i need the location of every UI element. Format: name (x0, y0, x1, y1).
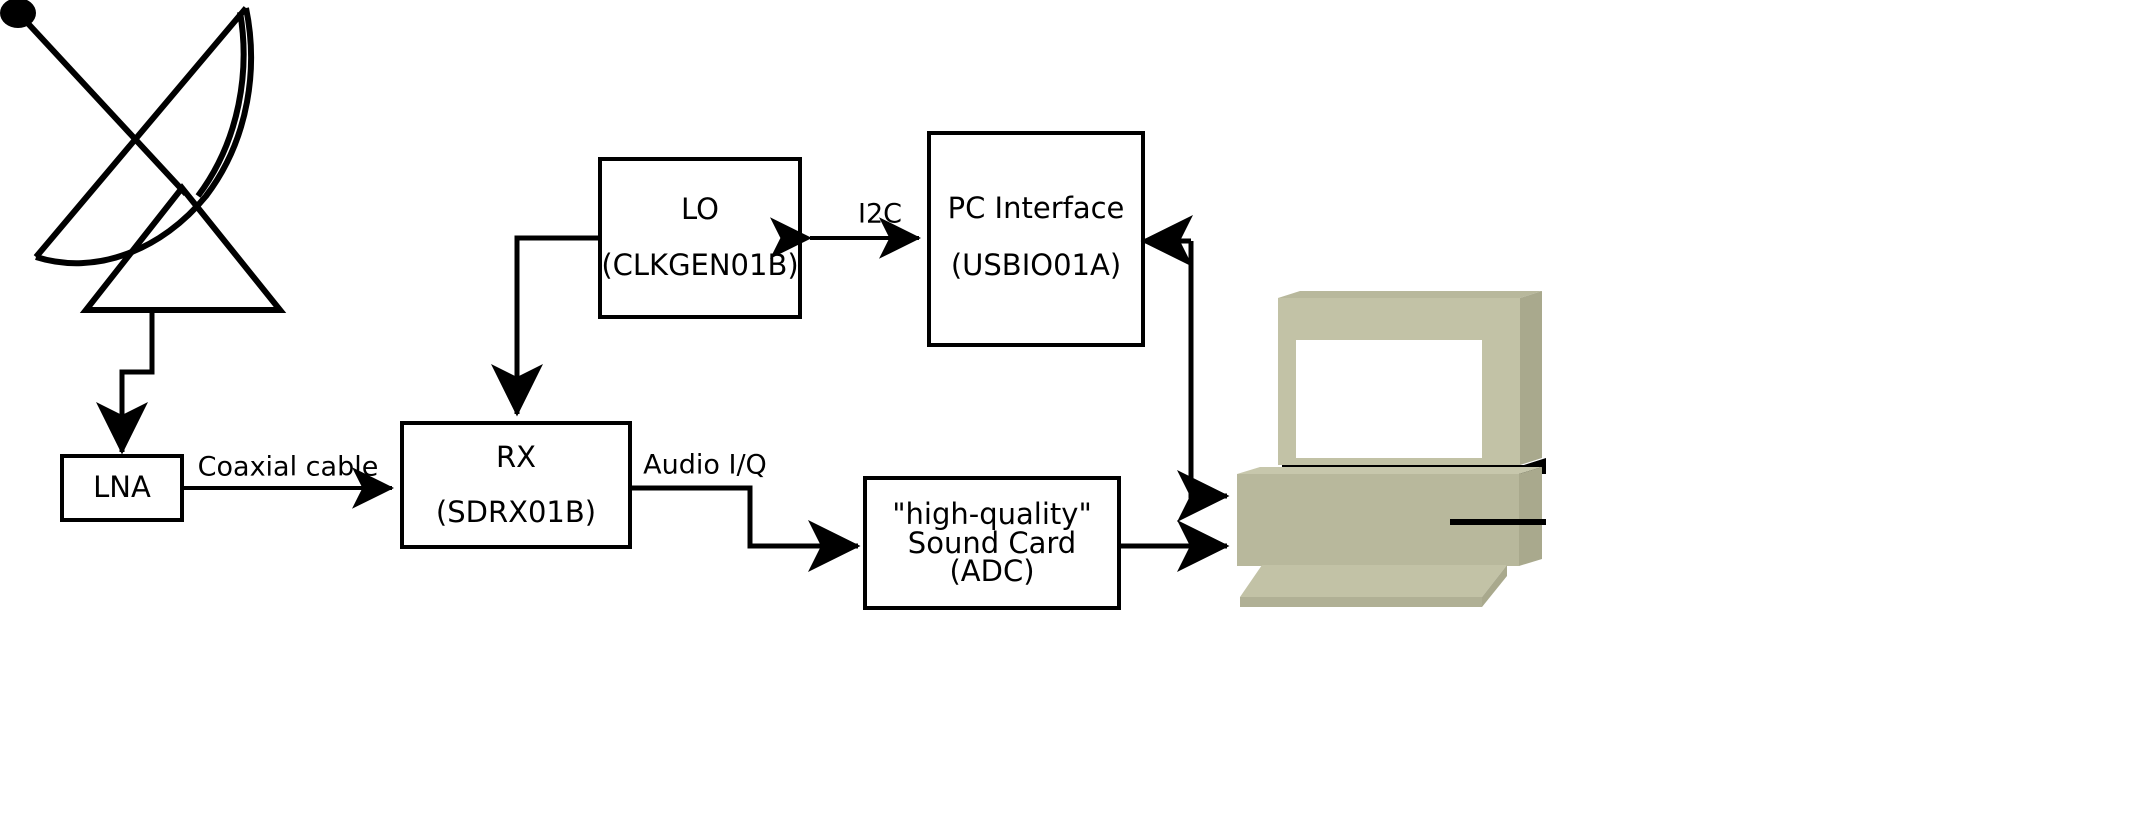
wire-rx-to-sound-card (630, 488, 858, 546)
lo-label-line2: (CLKGEN01B) (601, 248, 798, 282)
wire-usb-to-computer (1191, 241, 1227, 496)
coaxial-cable-label: Coaxial cable (198, 452, 379, 483)
rx-label-line1: RX (496, 440, 536, 474)
wire-antenna-to-lna (122, 310, 152, 452)
wire-lo-to-rx (517, 238, 600, 414)
pc-interface-label-line1: PC Interface (948, 191, 1125, 225)
satellite-dish-antenna (0, 0, 280, 310)
computer-base-top (1237, 467, 1542, 474)
sound-card-label-line3: (ADC) (949, 554, 1034, 588)
i2c-label: I2C (858, 199, 902, 230)
computer-base-side (1519, 467, 1542, 566)
keyboard-front (1240, 597, 1482, 607)
crt-computer[interactable] (1237, 291, 1546, 607)
antenna-mount-triangle (86, 188, 280, 310)
monitor-side-face (1520, 291, 1542, 465)
pc-interface-label-line2: (USBIO01A) (951, 248, 1121, 282)
audio-iq-label: Audio I/Q (643, 450, 767, 481)
lo-label-line1: LO (681, 192, 719, 226)
drive-slot (1450, 519, 1546, 525)
dish-rear-curve (36, 8, 251, 263)
rx-block[interactable]: RX (SDRX01B) (402, 423, 630, 547)
lna-label: LNA (93, 470, 151, 504)
sound-card-block[interactable]: "high-quality" Sound Card (ADC) (865, 478, 1119, 608)
lo-box (600, 159, 800, 317)
diagram-svg: LNA Coaxial cable RX (SDRX01B) LO (CLKGE… (0, 0, 2137, 829)
keyboard-top (1240, 565, 1507, 597)
pc-interface-box (929, 133, 1143, 345)
monitor-screen (1296, 340, 1482, 458)
pc-interface-block[interactable]: PC Interface (USBIO01A) (929, 133, 1143, 345)
rx-label-line2: (SDRX01B) (436, 495, 596, 529)
dish-front-edge (36, 8, 246, 257)
lo-block[interactable]: LO (CLKGEN01B) (600, 159, 800, 317)
lna-block[interactable]: LNA (62, 456, 182, 520)
block-diagram-canvas: LNA Coaxial cable RX (SDRX01B) LO (CLKGE… (0, 0, 2137, 829)
monitor-top-face (1278, 291, 1542, 298)
